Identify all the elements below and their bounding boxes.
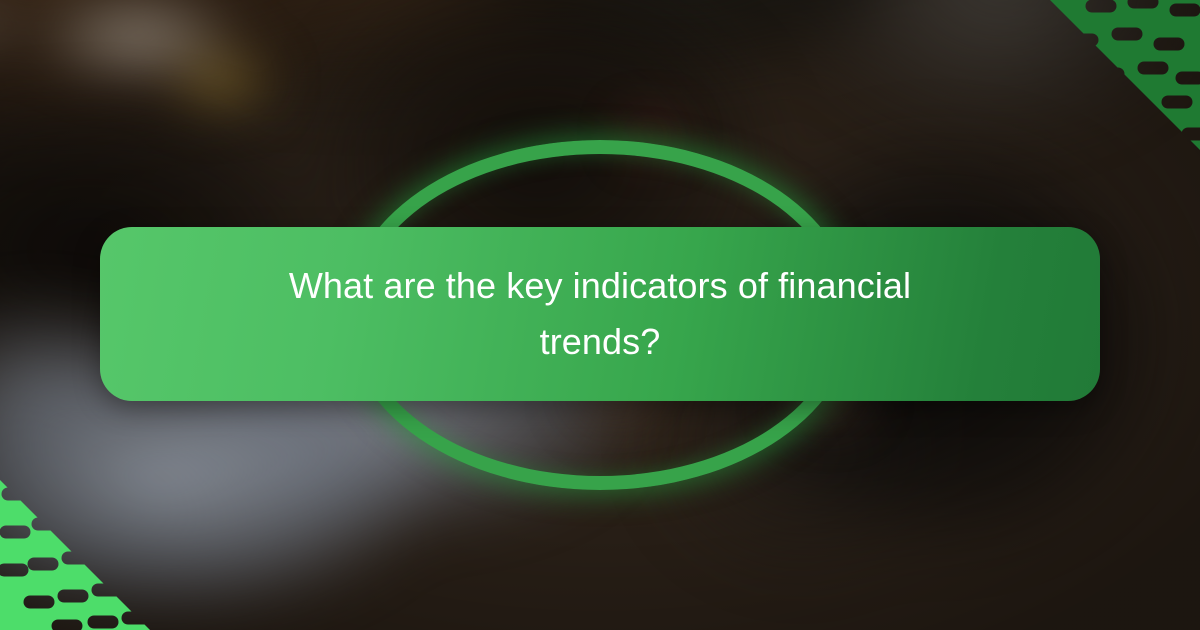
page-title: What are the key indicators of financial… <box>260 258 940 370</box>
headline-banner: What are the key indicators of financial… <box>100 227 1100 401</box>
social-card: What are the key indicators of financial… <box>0 0 1200 630</box>
